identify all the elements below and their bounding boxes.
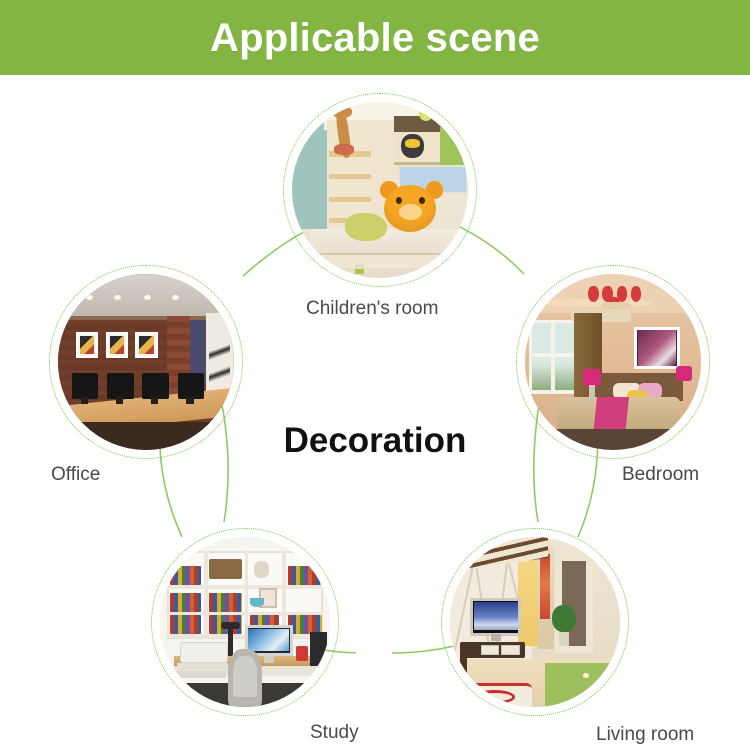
study-photo: [160, 537, 330, 707]
node-label-living-room: Living room: [596, 725, 694, 744]
node-living-room[interactable]: Living room: [441, 528, 629, 716]
node-childrens-room[interactable]: Children's room: [283, 93, 477, 287]
node-label-study: Study: [310, 723, 359, 742]
children-room-photo: [292, 102, 468, 278]
node-label-bedroom: Bedroom: [622, 465, 699, 484]
node-label-office: Office: [51, 465, 100, 484]
node-study[interactable]: Study: [151, 528, 339, 716]
living-room-photo: [450, 537, 620, 707]
office-photo: [58, 274, 234, 450]
node-office[interactable]: Office: [49, 265, 243, 459]
center-label: Decoration: [284, 423, 467, 458]
node-label-childrens-room: Children's room: [306, 299, 438, 318]
page-title: Applicable scene: [210, 18, 540, 58]
scene-diagram: Children's room Bedroom: [0, 75, 750, 750]
node-bedroom[interactable]: Bedroom: [516, 265, 710, 459]
bedroom-photo: [525, 274, 701, 450]
header-banner: Applicable scene: [0, 0, 750, 75]
